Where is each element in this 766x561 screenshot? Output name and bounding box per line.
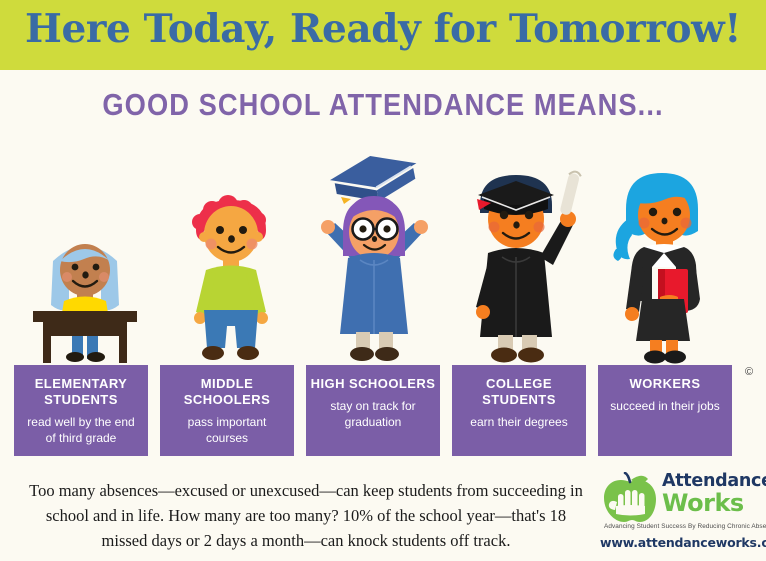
- middle-schooler-illustration: [176, 190, 286, 365]
- label-title: MIDDLE SCHOOLERS: [160, 376, 294, 408]
- college-student-illustration: [452, 157, 587, 365]
- copyright-icon: ©: [745, 366, 753, 378]
- label-box-high-schoolers: HIGH SCHOOLERS stay on track for graduat…: [306, 365, 440, 456]
- label-title: HIGH SCHOOLERS: [306, 376, 440, 392]
- label-title: ELEMENTARY STUDENTS: [14, 376, 148, 408]
- label-title: COLLEGE STUDENTS: [452, 376, 586, 408]
- label-subtitle: stay on track for graduation: [306, 398, 440, 430]
- label-title: WORKERS: [598, 376, 732, 392]
- label-box-college-students: COLLEGE STUDENTS earn their degrees: [452, 365, 586, 456]
- elementary-student-illustration: [20, 225, 150, 365]
- label-box-workers: WORKERS succeed in their jobs: [598, 365, 732, 456]
- attendance-works-logo[interactable]: Attendance Works Advancing Student Succe…: [600, 470, 766, 552]
- label-subtitle: read well by the end of third grade: [14, 414, 148, 446]
- worker-illustration: [600, 157, 725, 365]
- label-box-middle-schoolers: MIDDLE SCHOOLERS pass important courses: [160, 365, 294, 456]
- section-subtitle: GOOD SCHOOL ATTENDANCE MEANS...: [46, 87, 720, 123]
- logo-brand-line2: Works: [662, 491, 766, 515]
- label-subtitle: earn their degrees: [452, 414, 586, 430]
- page-title: Here Today, Ready for Tomorrow!: [0, 6, 766, 52]
- apple-hand-icon: [602, 472, 658, 529]
- label-subtitle: succeed in their jobs: [598, 398, 732, 414]
- logo-wordmark: Attendance Works: [662, 472, 766, 515]
- logo-tagline: Advancing Student Success By Reducing Ch…: [604, 523, 766, 530]
- infographic-poster: Here Today, Ready for Tomorrow! GOOD SCH…: [0, 0, 766, 561]
- audience-label-row: ELEMENTARY STUDENTS read well by the end…: [0, 365, 766, 456]
- label-subtitle: pass important courses: [160, 414, 294, 446]
- logo-url-link[interactable]: www.attendanceworks.org: [600, 535, 766, 550]
- high-schooler-illustration: [312, 150, 437, 365]
- illustration-stage: [0, 135, 766, 365]
- body-paragraph: Too many absences—excused or unexcused—c…: [26, 478, 586, 553]
- label-box-elementary-students: ELEMENTARY STUDENTS read well by the end…: [14, 365, 148, 456]
